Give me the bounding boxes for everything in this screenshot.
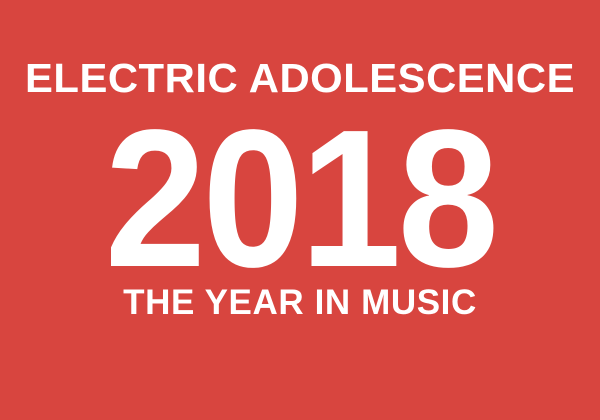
year-title: 2018	[21, 101, 579, 297]
poster-canvas: ELECTRIC ADOLESCENCE 2018 THE YEAR IN MU…	[0, 0, 600, 420]
subtitle: THE YEAR IN MUSIC	[0, 285, 600, 320]
